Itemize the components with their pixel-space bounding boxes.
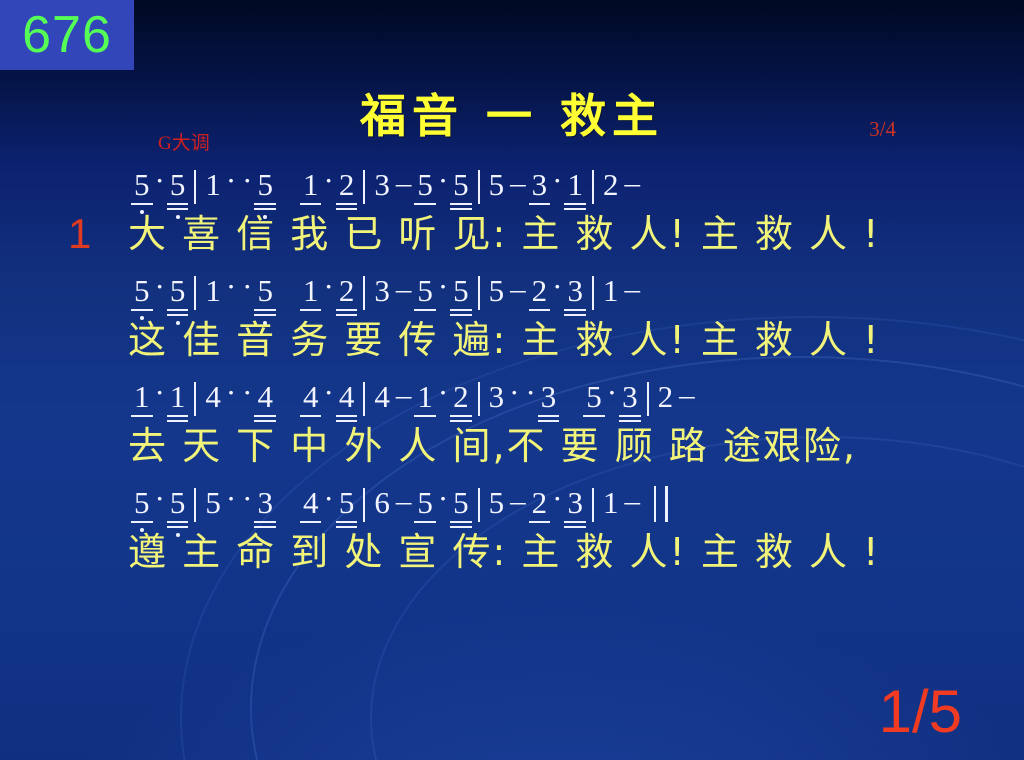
note-5: 5	[584, 381, 604, 412]
notation-row: 5·51··51·23–5·55–3·12–	[0, 160, 1024, 206]
notation-row: 1·14··44·44–1·23··35·32–	[0, 372, 1024, 418]
note-5: 5	[255, 275, 275, 306]
duration-dot: ·	[226, 271, 236, 302]
barline	[194, 488, 196, 522]
note-5: 5	[415, 275, 435, 306]
duration-dot: ·	[242, 377, 252, 408]
measure: 1··51·2	[203, 271, 356, 312]
lyrics-row: 去 天 下 中 外 人 间,不 要 顾 路 途艰险,	[0, 418, 1024, 474]
duration-dot: ·	[552, 165, 562, 196]
barline	[478, 170, 480, 204]
measure: 5–3·1	[487, 165, 585, 206]
duration-dash: –	[396, 485, 412, 516]
barline	[478, 276, 480, 310]
note-4: 4	[337, 381, 357, 412]
duration-dot: ·	[242, 165, 252, 196]
note-1: 1	[415, 381, 435, 412]
measure: 3–5·5	[372, 271, 470, 312]
notation-row: 5·51··51·23–5·55–2·31–	[0, 266, 1024, 312]
hymn-slide: 676 福音 一 救主 G大调 3/4 5·51··51·23–5·55–3·1…	[0, 0, 1024, 760]
duration-dot: ·	[155, 165, 165, 196]
final-barline	[654, 486, 668, 522]
measure: 3–5·5	[372, 165, 470, 206]
duration-dot: ·	[226, 377, 236, 408]
note-4: 4	[372, 381, 392, 412]
measure: 3··35·3	[487, 377, 640, 418]
music-system: 5·55··34·56–5·55–2·31–遵 主 命 到 处 宣 传: 主 救…	[0, 478, 1024, 580]
note-1: 1	[601, 487, 621, 518]
note-5: 5	[255, 169, 275, 200]
note-1: 1	[203, 275, 223, 306]
duration-dot: ·	[552, 271, 562, 302]
measure: 5–2·3	[487, 271, 585, 312]
lyrics-text: 这 佳 音 务 要 传 遍: 主 救 人! 主 救 人 !	[128, 318, 880, 362]
barline	[478, 488, 480, 522]
duration-dot: ·	[323, 165, 333, 196]
note-2: 2	[337, 169, 357, 200]
notation-row: 5·55··34·56–5·55–2·31–	[0, 478, 1024, 524]
note-3: 3	[565, 275, 585, 306]
note-2: 2	[601, 169, 621, 200]
music-body: 5·51··51·23–5·55–3·12–1大 喜 信 我 已 听 见: 主 …	[0, 160, 1024, 584]
duration-dash: –	[679, 379, 695, 410]
duration-dot: ·	[226, 165, 236, 196]
note-6: 6	[372, 487, 392, 518]
measure: 5··34·5	[203, 483, 356, 524]
measure: 1–	[601, 273, 644, 312]
measure: 5·5	[132, 165, 187, 206]
note-1: 1	[168, 381, 188, 412]
measure: 2–	[601, 167, 644, 206]
barline	[592, 488, 594, 522]
duration-dot: ·	[155, 377, 165, 408]
note-1: 1	[203, 169, 223, 200]
duration-dot: ·	[323, 377, 333, 408]
measure: 1–	[601, 485, 644, 524]
duration-dot: ·	[155, 483, 165, 514]
note-1: 1	[132, 381, 152, 412]
note-2: 2	[656, 381, 676, 412]
duration-dot: ·	[552, 483, 562, 514]
note-3: 3	[530, 169, 550, 200]
barline	[363, 170, 365, 204]
lyrics-row: 这 佳 音 务 要 传 遍: 主 救 人! 主 救 人 !	[0, 312, 1024, 368]
note-1: 1	[565, 169, 585, 200]
note-5: 5	[415, 169, 435, 200]
note-4: 4	[301, 487, 321, 518]
duration-dot: ·	[438, 377, 448, 408]
measure: 1·1	[132, 377, 187, 418]
music-system: 5·51··51·23–5·55–2·31–这 佳 音 务 要 传 遍: 主 救…	[0, 266, 1024, 368]
note-1: 1	[601, 275, 621, 306]
time-signature: 3/4	[869, 117, 896, 142]
note-5: 5	[203, 487, 223, 518]
measure: 4··44·4	[203, 377, 356, 418]
music-system: 5·51··51·23–5·55–3·12–1大 喜 信 我 已 听 见: 主 …	[0, 160, 1024, 262]
note-5: 5	[487, 275, 507, 306]
verse-number: 1	[68, 206, 93, 262]
note-5: 5	[168, 487, 188, 518]
note-5: 5	[451, 487, 471, 518]
barline	[647, 382, 649, 416]
note-4: 4	[255, 381, 275, 412]
lyrics-text: 大 喜 信 我 已 听 见: 主 救 人! 主 救 人 !	[128, 212, 880, 256]
duration-dash: –	[510, 485, 526, 516]
note-2: 2	[337, 275, 357, 306]
note-2: 2	[530, 275, 550, 306]
duration-dot: ·	[525, 377, 535, 408]
duration-dash: –	[624, 167, 640, 198]
barline	[592, 276, 594, 310]
note-5: 5	[415, 487, 435, 518]
note-2: 2	[530, 487, 550, 518]
hymn-number-badge: 676	[0, 0, 134, 70]
lyrics-text: 遵 主 命 到 处 宣 传: 主 救 人! 主 救 人 !	[128, 530, 880, 574]
measure: 4–1·2	[372, 377, 470, 418]
note-5: 5	[451, 275, 471, 306]
note-3: 3	[255, 487, 275, 518]
duration-dot: ·	[323, 483, 333, 514]
barline	[363, 382, 365, 416]
duration-dot: ·	[438, 165, 448, 196]
measure: 2–	[656, 379, 699, 418]
note-5: 5	[168, 169, 188, 200]
note-5: 5	[132, 169, 152, 200]
note-5: 5	[451, 169, 471, 200]
lyrics-row: 1大 喜 信 我 已 听 见: 主 救 人! 主 救 人 !	[0, 206, 1024, 262]
note-5: 5	[337, 487, 357, 518]
duration-dash: –	[396, 273, 412, 304]
measure: 5·5	[132, 483, 187, 524]
note-1: 1	[301, 275, 321, 306]
barline	[194, 382, 196, 416]
note-1: 1	[301, 169, 321, 200]
duration-dot: ·	[438, 271, 448, 302]
measure: 6–5·5	[372, 483, 470, 524]
note-3: 3	[565, 487, 585, 518]
note-2: 2	[451, 381, 471, 412]
barline	[478, 382, 480, 416]
duration-dot: ·	[323, 271, 333, 302]
barline	[592, 170, 594, 204]
note-3: 3	[620, 381, 640, 412]
duration-dot: ·	[242, 271, 252, 302]
note-4: 4	[203, 381, 223, 412]
note-5: 5	[132, 487, 152, 518]
duration-dot: ·	[509, 377, 519, 408]
note-5: 5	[132, 275, 152, 306]
duration-dash: –	[624, 273, 640, 304]
measure: 5·5	[132, 271, 187, 312]
barline	[194, 276, 196, 310]
duration-dot: ·	[242, 483, 252, 514]
hymn-number: 676	[22, 9, 112, 61]
key-signature: G大调	[158, 128, 210, 155]
duration-dot: ·	[226, 483, 236, 514]
note-5: 5	[168, 275, 188, 306]
note-3: 3	[539, 381, 559, 412]
note-5: 5	[487, 487, 507, 518]
duration-dash: –	[396, 379, 412, 410]
note-3: 3	[372, 169, 392, 200]
duration-dash: –	[396, 167, 412, 198]
music-system: 1·14··44·44–1·23··35·32–去 天 下 中 外 人 间,不 …	[0, 372, 1024, 474]
lyrics-text: 去 天 下 中 外 人 间,不 要 顾 路 途艰险,	[128, 424, 857, 468]
duration-dot: ·	[607, 377, 617, 408]
measure: 1··51·2	[203, 165, 356, 206]
page-indicator: 1/5	[879, 682, 962, 742]
duration-dash: –	[510, 273, 526, 304]
note-3: 3	[372, 275, 392, 306]
note-4: 4	[301, 381, 321, 412]
measure: 5–2·3	[487, 483, 585, 524]
duration-dash: –	[510, 167, 526, 198]
note-5: 5	[487, 169, 507, 200]
lyrics-row: 遵 主 命 到 处 宣 传: 主 救 人! 主 救 人 !	[0, 524, 1024, 580]
barline	[363, 276, 365, 310]
barline	[363, 488, 365, 522]
note-3: 3	[487, 381, 507, 412]
duration-dot: ·	[155, 271, 165, 302]
duration-dash: –	[624, 485, 640, 516]
duration-dot: ·	[438, 483, 448, 514]
barline	[194, 170, 196, 204]
